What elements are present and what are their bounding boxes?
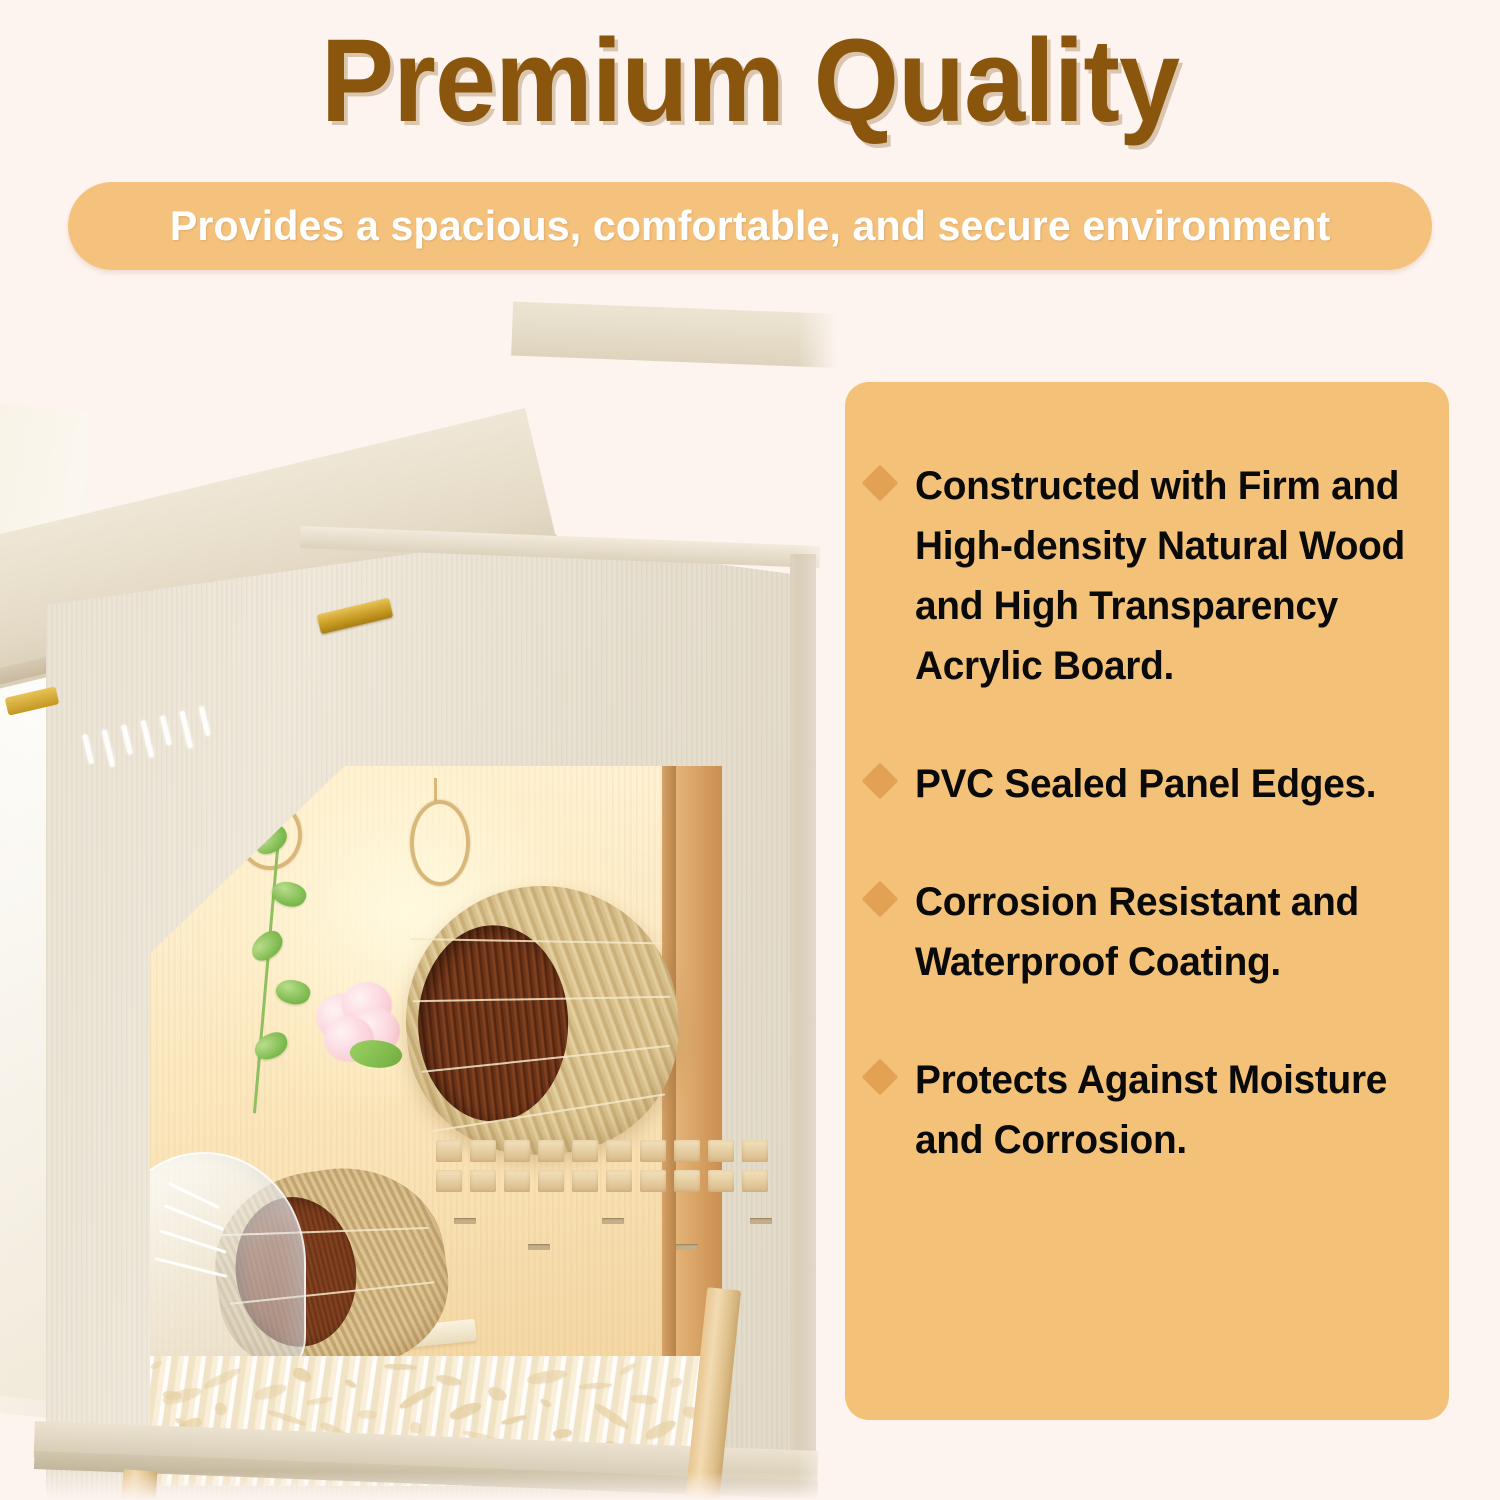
feature-item-text: Protects Against Moisture and Corrosion.	[915, 1050, 1419, 1170]
wood-shaving	[398, 1383, 436, 1411]
board-slot	[528, 1244, 550, 1250]
board-slot	[602, 1218, 624, 1224]
feature-item-text: Corrosion Resistant and Waterproof Coati…	[915, 872, 1419, 992]
wood-shaving	[161, 1384, 202, 1406]
wood-shaving	[358, 1410, 377, 1419]
lattice-cell	[470, 1140, 496, 1162]
wood-shaving	[410, 1421, 423, 1433]
pentagon-window-opening	[150, 766, 722, 1486]
lattice-cell	[470, 1170, 496, 1192]
lattice-cell	[504, 1170, 530, 1192]
dome-stripe	[164, 1204, 224, 1231]
wood-shaving	[384, 1364, 417, 1370]
lattice-cell	[436, 1170, 462, 1192]
lattice-cell	[572, 1170, 598, 1192]
wood-shaving	[553, 1428, 573, 1439]
feature-item: PVC Sealed Panel Edges.	[867, 754, 1435, 814]
dome-stripe	[155, 1257, 228, 1278]
lattice-cell	[538, 1170, 564, 1192]
feature-item: Corrosion Resistant and Waterproof Coati…	[867, 872, 1435, 992]
feature-item-text: Constructed with Firm and High-density N…	[915, 456, 1419, 696]
ventilation-slot	[179, 711, 193, 749]
ventilation-slot	[160, 715, 172, 745]
diamond-bullet-icon	[862, 763, 899, 800]
lattice-cell	[572, 1140, 598, 1162]
ventilation-slot	[140, 720, 154, 758]
lattice-cell	[538, 1140, 564, 1162]
wood-shaving	[306, 1396, 332, 1406]
lattice-cell	[504, 1140, 530, 1162]
wood-shaving	[618, 1361, 637, 1376]
lattice-cell	[674, 1170, 700, 1192]
board-slot	[676, 1244, 698, 1250]
dome-stripe	[168, 1182, 220, 1209]
wood-shaving	[540, 1398, 553, 1408]
wood-shaving	[150, 1359, 162, 1370]
wood-shaving	[267, 1409, 307, 1426]
wood-shaving	[214, 1402, 228, 1415]
wood-shaving	[669, 1376, 683, 1388]
diamond-bullet-icon	[862, 1059, 899, 1096]
lattice-cell	[708, 1170, 734, 1192]
photo-bottom-fade	[0, 1472, 838, 1500]
features-list: Constructed with Firm and High-density N…	[867, 456, 1435, 1170]
lattice-cell	[640, 1170, 666, 1192]
dome-stripe	[159, 1229, 227, 1253]
ventilation-slot	[199, 706, 211, 736]
wood-shaving	[202, 1365, 241, 1390]
lattice-cell	[742, 1170, 768, 1192]
diamond-bullet-icon	[862, 465, 899, 502]
wood-shaving	[292, 1366, 314, 1383]
wood-shaving	[526, 1367, 567, 1386]
wood-shaving	[631, 1394, 657, 1404]
feature-item-text: PVC Sealed Panel Edges.	[915, 754, 1419, 814]
wood-shaving	[487, 1385, 508, 1401]
features-panel: Constructed with Firm and High-density N…	[845, 382, 1449, 1420]
hanging-straw-ring-2	[410, 800, 470, 886]
photo-right-fade	[798, 288, 838, 1500]
subtitle-banner: Provides a spacious, comfortable, and se…	[68, 182, 1432, 270]
subtitle-text: Provides a spacious, comfortable, and se…	[170, 202, 1331, 250]
lattice-cell	[606, 1140, 632, 1162]
wood-shaving	[643, 1417, 677, 1443]
lattice-cell	[640, 1140, 666, 1162]
diamond-bullet-icon	[862, 881, 899, 918]
lattice-cell	[742, 1140, 768, 1162]
wood-shaving	[345, 1378, 358, 1388]
nest-opening	[418, 925, 568, 1121]
infographic-root: Premium Quality Provides a spacious, com…	[0, 0, 1500, 1500]
wood-shaving	[436, 1374, 463, 1386]
wood-shaving	[448, 1399, 483, 1422]
lattice-cell	[606, 1170, 632, 1192]
lattice-cell	[674, 1140, 700, 1162]
board-slot	[750, 1218, 772, 1224]
lattice-cell	[708, 1140, 734, 1162]
ventilation-slot	[121, 725, 133, 755]
board-slot	[454, 1218, 476, 1224]
wood-shaving	[501, 1414, 527, 1426]
feature-item: Constructed with Firm and High-density N…	[867, 456, 1435, 696]
lattice-cell	[436, 1140, 462, 1162]
pink-flower	[316, 982, 408, 1066]
product-photo	[0, 288, 838, 1500]
lattice-grid-panel	[436, 1140, 788, 1260]
feature-item: Protects Against Moisture and Corrosion.	[867, 1050, 1435, 1170]
page-title: Premium Quality	[53, 18, 1448, 145]
wood-shaving	[579, 1382, 612, 1389]
ventilation-slot	[102, 729, 116, 767]
wood-shaving	[253, 1381, 288, 1402]
wood-shaving	[593, 1402, 631, 1430]
